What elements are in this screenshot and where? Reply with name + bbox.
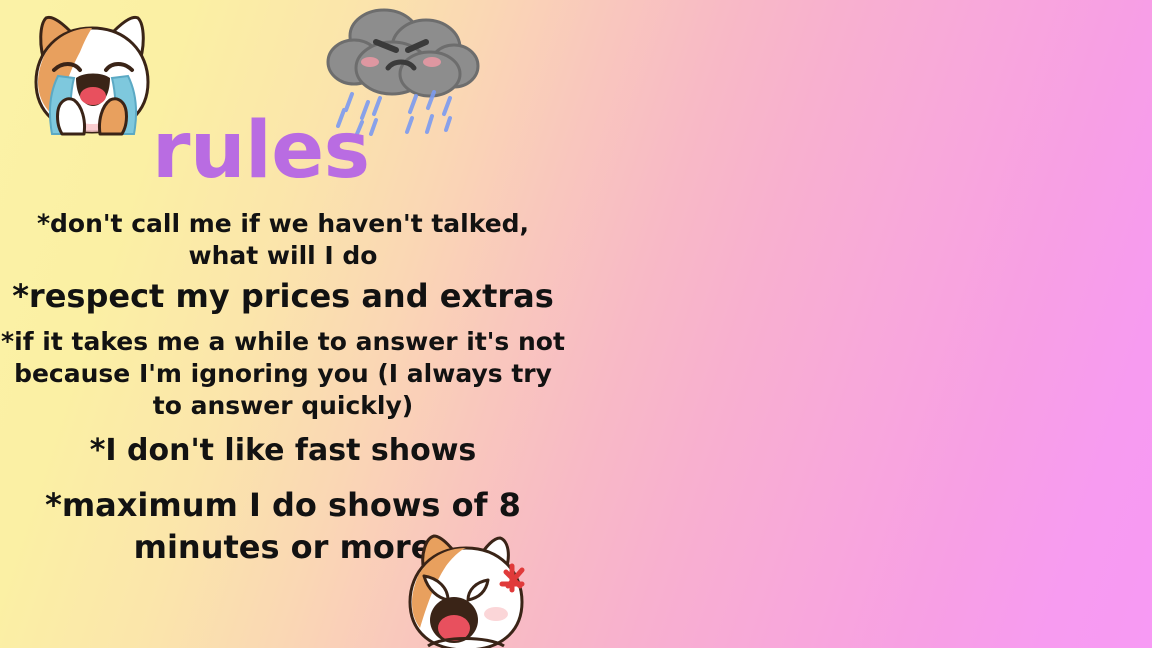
slide-canvas: rules *don't call me if we haven't talke… bbox=[0, 0, 1152, 648]
rule-item-1: *don't call me if we haven't talked, wha… bbox=[0, 208, 566, 272]
angry-cat-sticker bbox=[384, 528, 550, 648]
crying-cat-sticker bbox=[22, 8, 162, 136]
rule-item-4: *I don't like fast shows bbox=[0, 432, 566, 470]
rule-item-2: *respect my prices and extras bbox=[0, 276, 566, 316]
rules-list: *don't call me if we haven't talked, wha… bbox=[0, 208, 566, 568]
page-title: rules bbox=[152, 112, 370, 190]
rule-item-3: *if it takes me a while to answer it's n… bbox=[0, 326, 566, 422]
